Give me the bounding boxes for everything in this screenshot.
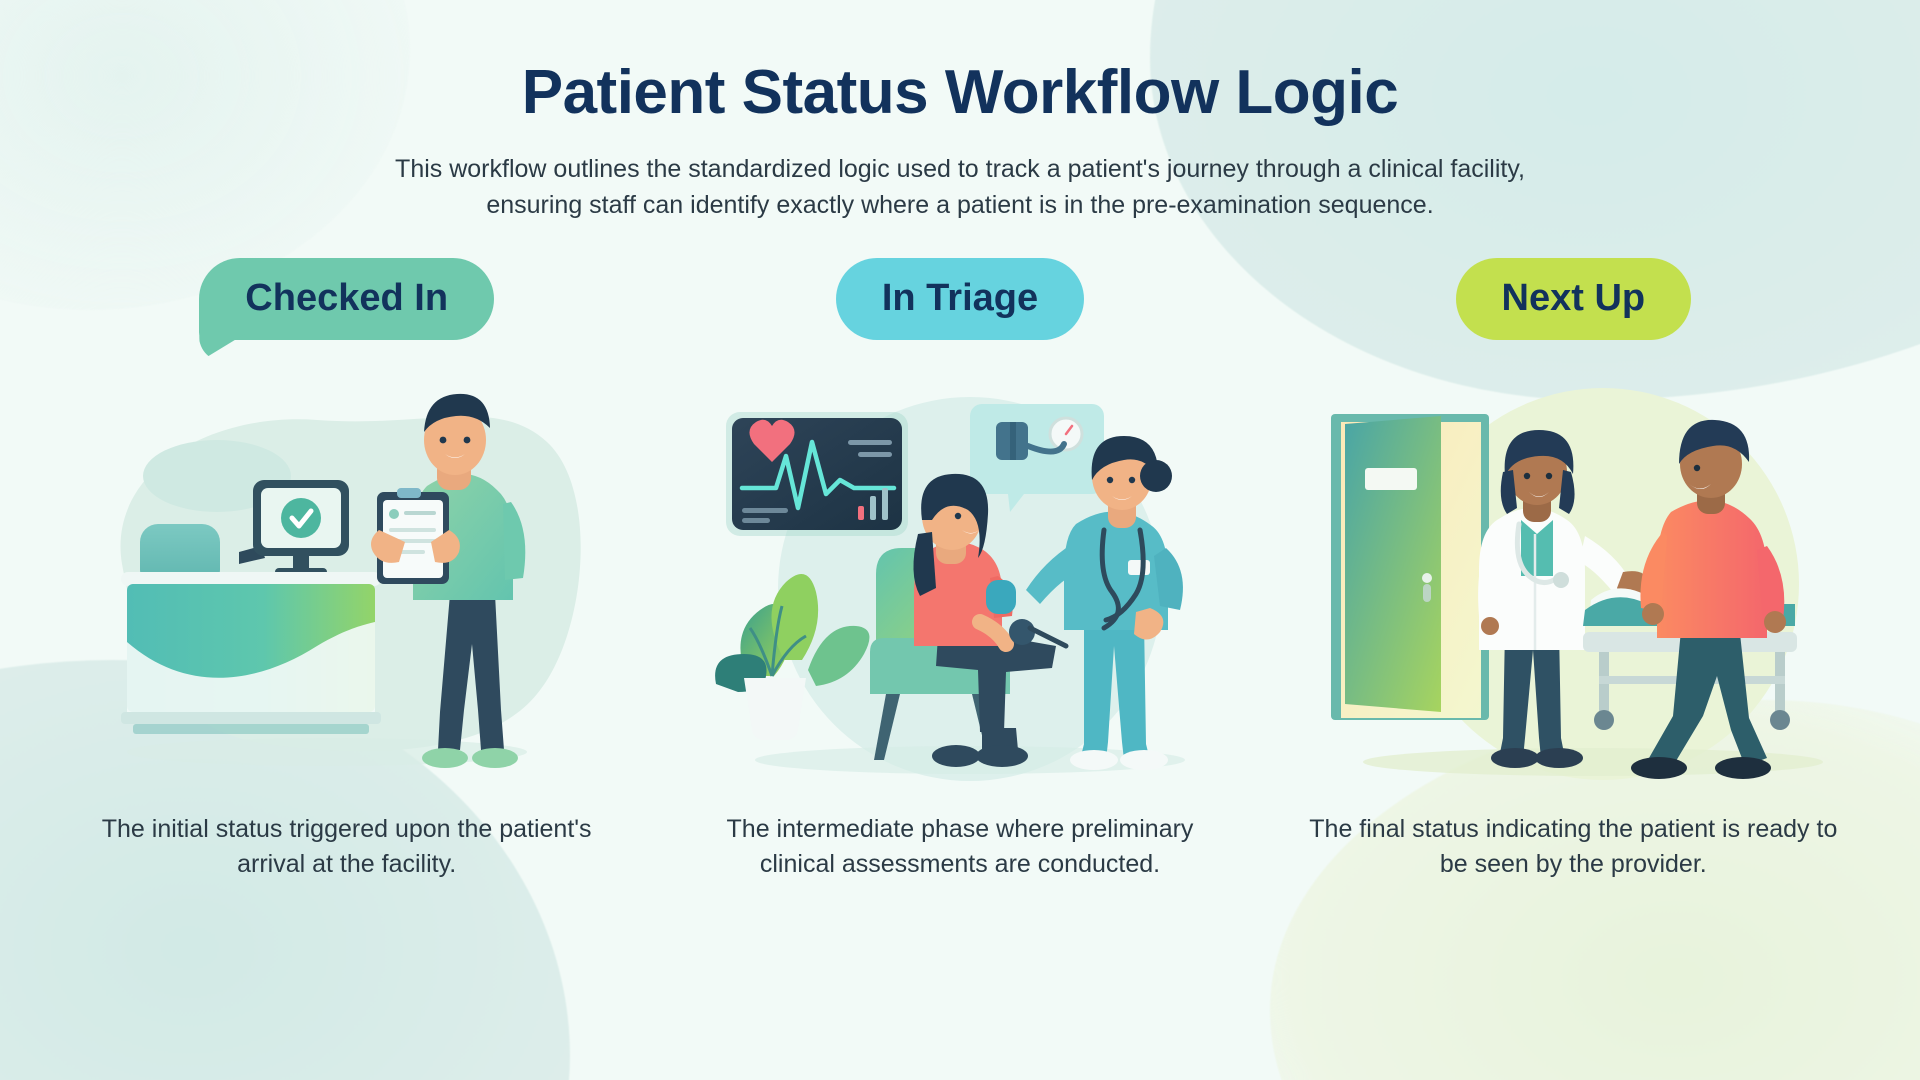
door-panel bbox=[1345, 416, 1441, 712]
exam-wheel-right bbox=[1770, 710, 1790, 730]
walking-patient-shirt bbox=[1657, 500, 1767, 638]
ecg-vitals-monitor bbox=[726, 412, 908, 536]
doctor-shoe-right bbox=[1535, 748, 1583, 768]
doctor-shoe-left bbox=[1491, 748, 1539, 768]
eye-left bbox=[439, 436, 446, 443]
step-caption-next-up: The final status indicating the patient … bbox=[1308, 812, 1838, 883]
status-badge-in-triage-label: In Triage bbox=[882, 277, 1038, 320]
walking-hand-right bbox=[1764, 611, 1786, 633]
page-subtitle: This workflow outlines the standardized … bbox=[265, 151, 1655, 224]
page-header: Patient Status Workflow Logic This workf… bbox=[0, 0, 1920, 224]
walking-hand-left bbox=[1642, 603, 1664, 625]
status-badge-checked-in[interactable]: Checked In bbox=[199, 258, 494, 340]
check-circle bbox=[281, 498, 321, 538]
status-badge-next-up[interactable]: Next Up bbox=[1456, 258, 1692, 340]
workflow-steps: Checked In bbox=[0, 258, 1920, 883]
status-badge-checked-in-label: Checked In bbox=[245, 277, 448, 320]
triage-assessment-illustration bbox=[680, 384, 1240, 784]
open-exam-room-door bbox=[1331, 414, 1489, 720]
step-caption-checked-in: The initial status triggered upon the pa… bbox=[87, 812, 607, 883]
nurse-hair-bun bbox=[1140, 460, 1172, 492]
eye-right bbox=[463, 436, 470, 443]
reception-desk bbox=[121, 572, 381, 734]
shoe-right bbox=[472, 748, 518, 768]
walking-shoe-right bbox=[1715, 757, 1771, 779]
page-subtitle-line-1: This workflow outlines the standardized … bbox=[265, 151, 1655, 187]
walking-shoe-left bbox=[1631, 757, 1687, 779]
plant-pot bbox=[744, 678, 806, 740]
doctor-hand-left bbox=[1481, 617, 1499, 635]
nurse-shoe-right bbox=[1120, 750, 1168, 770]
page-subtitle-line-2: ensuring staff can identify exactly wher… bbox=[265, 187, 1655, 223]
workflow-step-checked-in: Checked In bbox=[40, 258, 653, 883]
patient-shoe-b bbox=[932, 745, 980, 767]
status-badge-next-up-label: Next Up bbox=[1502, 277, 1646, 320]
exam-wheel-left bbox=[1594, 710, 1614, 730]
reception-check-in-illustration bbox=[67, 384, 627, 784]
workflow-step-in-triage: In Triage bbox=[653, 258, 1266, 883]
next-up-exam-room-illustration bbox=[1293, 384, 1853, 784]
workflow-step-next-up: Next Up bbox=[1267, 258, 1880, 883]
shoe-left bbox=[422, 748, 468, 768]
status-badge-in-triage[interactable]: In Triage bbox=[836, 258, 1084, 340]
nurse-shoe-left bbox=[1070, 750, 1118, 770]
name-badge bbox=[1128, 560, 1150, 575]
floor-shadow bbox=[127, 738, 527, 766]
door-knob bbox=[1422, 573, 1432, 583]
page-title: Patient Status Workflow Logic bbox=[0, 60, 1920, 125]
patient-shoe-a bbox=[976, 745, 1028, 767]
door-sign bbox=[1365, 468, 1417, 490]
bp-cuff-on-arm bbox=[986, 580, 1016, 614]
stethoscope-chestpiece bbox=[1009, 619, 1035, 645]
infographic-page: Patient Status Workflow Logic This workf… bbox=[0, 0, 1920, 1080]
step-caption-in-triage: The intermediate phase where preliminary… bbox=[690, 812, 1230, 883]
